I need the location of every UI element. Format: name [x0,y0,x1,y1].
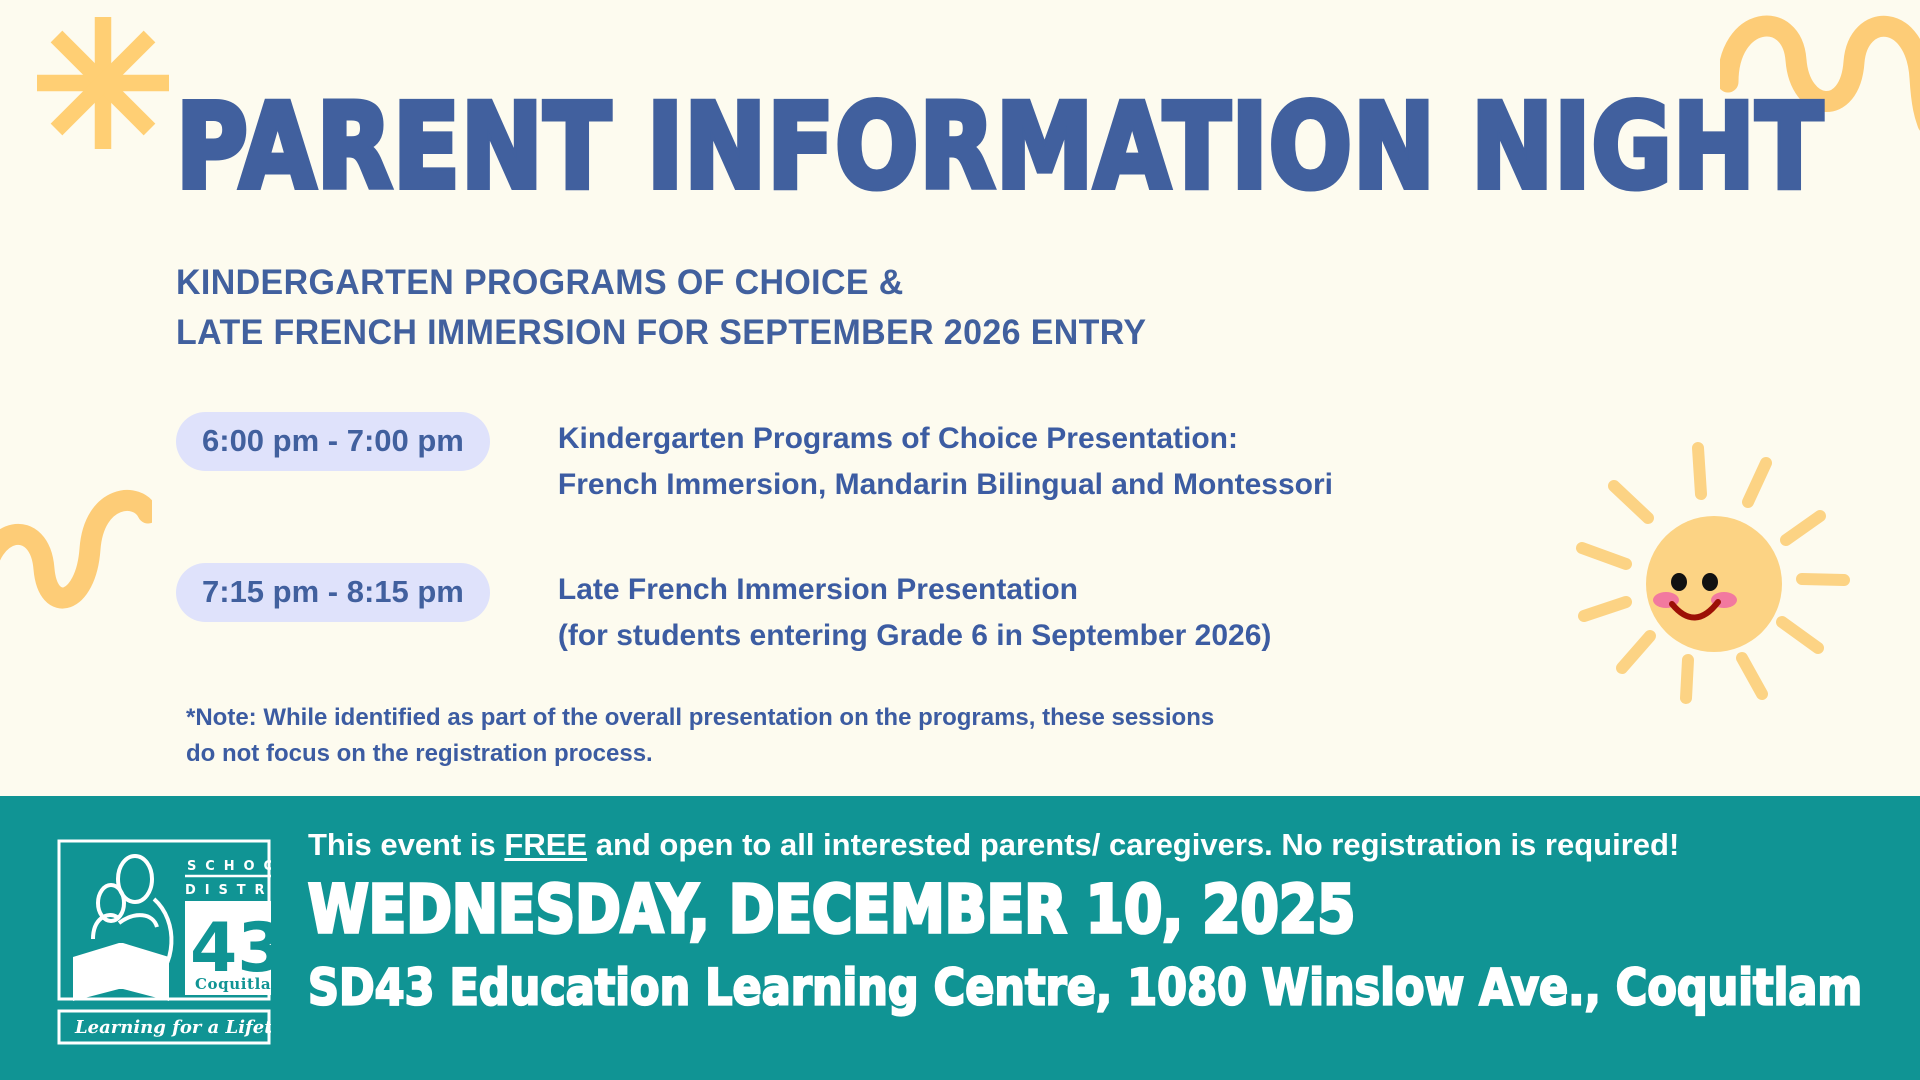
logo-tagline-text: Learning for a Lifetime [74,1017,271,1038]
subtitle-line-2: LATE FRENCH IMMERSION FOR SEPTEMBER 2026… [176,308,1146,358]
free-keyword: FREE [504,827,587,862]
starburst-icon [28,8,178,158]
event-date: WEDNESDAY, DECEMBER 10, 2025 [308,877,1888,943]
subtitle-line-1: KINDERGARTEN PROGRAMS OF CHOICE & [176,258,1146,308]
page-subtitle: KINDERGARTEN PROGRAMS OF CHOICE & LATE F… [176,258,1146,357]
page-title: PARENT INFORMATION NIGHT [176,88,1824,205]
free-suffix: and open to all interested parents/ care… [587,827,1679,862]
logo-school-text: S C H O O L [187,859,271,874]
session-list: 6:00 pm - 7:00 pm Kindergarten Programs … [176,412,1516,714]
footer-text-block: This event is FREE and open to all inter… [308,826,1888,1007]
top-section: PARENT INFORMATION NIGHT KINDERGARTEN PR… [0,0,1920,796]
session-item: 7:15 pm - 8:15 pm Late French Immersion … [176,563,1516,658]
free-prefix: This event is [308,827,504,862]
sd43-logo: S C H O O L D I S T R I C T 43 Coquitlam… [57,839,271,1047]
logo-district-text: D I S T R I C T [185,883,271,898]
squiggle-icon [0,465,152,615]
logo-city-text: Coquitlam [195,975,271,993]
poster-canvas: PARENT INFORMATION NIGHT KINDERGARTEN PR… [0,0,1920,1080]
session-description: Kindergarten Programs of Choice Presenta… [558,412,1333,507]
event-venue: SD43 Education Learning Centre, 1080 Win… [308,964,1888,1014]
session-time-badge: 6:00 pm - 7:00 pm [176,412,490,471]
footnote-text: *Note: While identified as part of the o… [186,700,1214,773]
footer-band: S C H O O L D I S T R I C T 43 Coquitlam… [0,796,1920,1080]
session-description: Late French Immersion Presentation (for … [558,563,1272,658]
session-item: 6:00 pm - 7:00 pm Kindergarten Programs … [176,412,1516,507]
session-time-badge: 7:15 pm - 8:15 pm [176,563,490,622]
smiling-sun-icon [1568,436,1858,706]
free-event-line: This event is FREE and open to all inter… [308,826,1888,863]
